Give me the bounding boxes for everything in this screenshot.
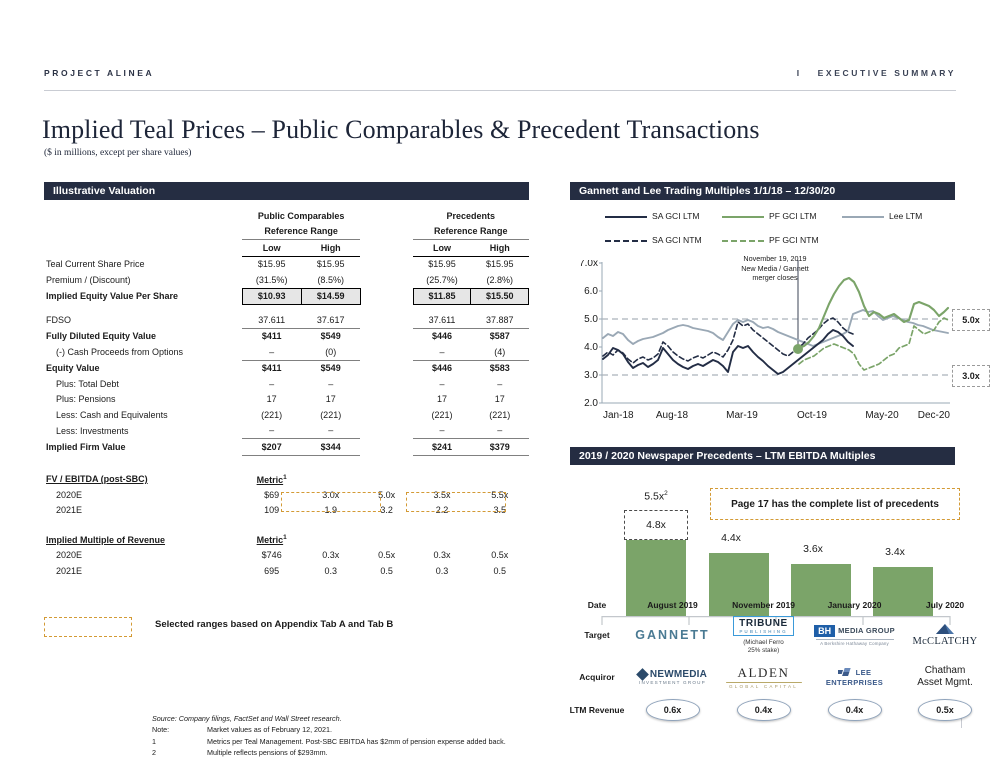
cell: 17: [413, 392, 471, 408]
row-label-ltm-revenue: LTM Revenue: [565, 697, 627, 723]
alden-logo-rule: [726, 682, 802, 684]
cell: $207: [242, 439, 301, 456]
row-label: 2021E: [44, 563, 242, 579]
table-row-date: Date August 2019 November 2019 January 2…: [565, 596, 990, 613]
cell: 0.3x: [301, 548, 360, 564]
table-row: (-) Cash Proceeds from Options – (0) – (…: [44, 344, 529, 360]
page-title: Implied Teal Prices – Public Comparables…: [42, 115, 760, 145]
legend-swatch-icon: [605, 216, 647, 218]
footnote-key: 1: [152, 736, 207, 747]
cell: 37.617: [301, 312, 360, 328]
col-header-prec-high: High: [471, 240, 529, 257]
cell: $411: [242, 360, 301, 376]
cell: (221): [301, 407, 360, 423]
cell: 0.3: [413, 563, 471, 579]
cell: (221): [413, 407, 471, 423]
cell: –: [471, 423, 529, 439]
row-label: Implied Equity Value Per Share: [44, 288, 242, 305]
table-row-acquiror: Acquiror NEWMEDIA INVESTMENT GROUP ALDEN…: [565, 657, 990, 697]
bar-upper-label-1: 5.5x2: [606, 490, 706, 503]
cell-ltm-revenue: 0.6x: [627, 697, 718, 723]
cell: (2.8%): [471, 272, 529, 288]
cell: 0.5x: [471, 548, 529, 564]
mcclatchy-logo: McCLATCHY: [900, 636, 990, 647]
merger-event-marker: [793, 344, 803, 354]
legend-swatch-icon: [722, 216, 764, 218]
header-section-label: IEXECUTIVE SUMMARY: [797, 68, 956, 78]
cell: $15.50: [471, 288, 529, 305]
cell: –: [242, 344, 301, 360]
legend-label: Lee LTM: [889, 211, 922, 221]
line-chart-svg: 7.0x 6.0 5.0 4.0 3.0 2.0: [570, 260, 990, 435]
table-row: Less: Cash and Equivalents (221) (221) (…: [44, 407, 529, 423]
legend-swatch-icon: [722, 240, 764, 242]
trading-multiples-chart: SA GCI LTM PF GCI LTM Lee LTM SA GCI NTM…: [570, 205, 990, 435]
cell: $446: [413, 360, 471, 376]
table-row: Premium / (Discount) (31.5%) (8.5%) (25.…: [44, 272, 529, 288]
header-section-numeral: I: [797, 68, 802, 78]
cell: (31.5%): [242, 272, 301, 288]
selected-range-box-public: [281, 492, 381, 512]
col-header-public-low: Low: [242, 240, 301, 257]
svg-text:May-20: May-20: [865, 410, 899, 421]
cell: 0.5: [471, 563, 529, 579]
cell: $587: [471, 328, 529, 344]
table-row: Plus: Total Debt – – – –: [44, 376, 529, 392]
cell: 37.611: [242, 312, 301, 328]
col-header-prec-low: Low: [413, 240, 471, 257]
cell: $10.93: [242, 288, 301, 305]
row-label: Premium / (Discount): [44, 272, 242, 288]
metric-header: Metric: [257, 535, 284, 545]
table-row: Less: Investments – – – –: [44, 423, 529, 439]
header-divider: [44, 90, 956, 91]
cell: 37.887: [471, 312, 529, 328]
table-row: Implied Firm Value $207 $344 $241 $379: [44, 439, 529, 456]
alden-logo: ALDEN: [718, 665, 809, 681]
cell-target-bh-media: BHMEDIA GROUP A Berkshire Hathaway Compa…: [809, 613, 900, 657]
ltm-revenue-pill: 0.4x: [828, 699, 882, 721]
svg-text:Mar-19: Mar-19: [726, 410, 758, 421]
metric-footnote-marker: 1: [283, 534, 287, 541]
table-row: Plus: Pensions 17 17 17 17: [44, 392, 529, 408]
table-row-group-header: Public Comparables Precedents: [44, 208, 529, 224]
cell-metric: $746: [242, 548, 301, 564]
bh-media-logo-sub: A Berkshire Hathaway Company: [809, 641, 900, 646]
table-row-group-subheader: Reference Range Reference Range: [44, 224, 529, 240]
subsection-title-fv-ebitda: FV / EBITDA (post-SBC): [46, 474, 148, 484]
metric-header: Metric: [257, 475, 284, 485]
bh-media-logo: BHMEDIA GROUP: [809, 625, 900, 637]
cell: –: [413, 344, 471, 360]
footnote-source: Source: Company filings, FactSet and Wal…: [152, 713, 506, 724]
table-row-column-headers: Low High Low High: [44, 240, 529, 257]
group-header-precedents: Precedents: [413, 208, 528, 224]
callout-page-reference: Page 17 has the complete list of precede…: [710, 488, 960, 520]
table-row: Equity Value $411 $549 $446 $583: [44, 360, 529, 376]
table-row-target: Target GANNETT TRIBUNE PUBLISHING (Micha…: [565, 613, 990, 657]
row-label: FDSO: [44, 312, 242, 328]
cell-ltm-revenue: 0.5x: [900, 697, 990, 723]
cell: (4): [471, 344, 529, 360]
col-header-public-high: High: [301, 240, 360, 257]
table-row: 2021E 695 0.3 0.5 0.3 0.5: [44, 563, 529, 579]
cell: (25.7%): [413, 272, 471, 288]
cell-ltm-revenue: 0.4x: [718, 697, 809, 723]
table-row: Fully Diluted Equity Value $411 $549 $44…: [44, 328, 529, 344]
group-subheader-public: Reference Range: [242, 224, 360, 240]
svg-text:Aug-18: Aug-18: [656, 410, 689, 421]
cell-acquiror-chatham: Chatham Asset Mgmt.: [900, 657, 990, 697]
ltm-revenue-pill: 0.4x: [737, 699, 791, 721]
svg-text:2.0: 2.0: [584, 398, 598, 409]
cell: (8.5%): [301, 272, 360, 288]
row-label: (-) Cash Proceeds from Options: [44, 344, 242, 360]
cell-target-gannett: GANNETT: [627, 613, 718, 657]
cell-target-tribune: TRIBUNE PUBLISHING (Michael Ferro 25% st…: [718, 613, 809, 657]
selected-range-legend-swatch: [44, 617, 132, 637]
target-note-tribune: (Michael Ferro 25% stake): [718, 639, 809, 655]
table-row: 2020E $746 0.3x 0.5x 0.3x 0.5x: [44, 548, 529, 564]
bar-value-label-4: 3.4x: [845, 546, 945, 558]
cell: 0.3: [301, 563, 360, 579]
cell: $344: [301, 439, 360, 456]
subsection-title-revenue-multiple: Implied Multiple of Revenue: [46, 535, 165, 545]
cell: $411: [242, 328, 301, 344]
section-header-trading-multiples: Gannett and Lee Trading Multiples 1/1/18…: [570, 182, 955, 200]
reference-value-5x: 5.0x: [952, 309, 990, 331]
ltm-revenue-pill: 0.6x: [646, 699, 700, 721]
ltm-revenue-pill: 0.5x: [918, 699, 972, 721]
cell: –: [301, 423, 360, 439]
cell: $15.95: [471, 256, 529, 272]
legend-item-sa-gci-ltm: SA GCI LTM: [605, 211, 700, 221]
cell: –: [242, 423, 301, 439]
cell: 0.3x: [413, 548, 471, 564]
cell: $549: [301, 360, 360, 376]
cell: $14.59: [301, 288, 360, 305]
cell-ltm-revenue: 0.4x: [809, 697, 900, 723]
cell-date: January 2020: [809, 596, 900, 613]
row-label: 2021E: [44, 503, 242, 519]
row-label: 2020E: [44, 487, 242, 503]
cell: (0): [301, 344, 360, 360]
footnote-text: Market values as of February 12, 2021.: [207, 724, 332, 735]
row-label: Plus: Pensions: [44, 392, 242, 408]
cell: –: [413, 376, 471, 392]
cell: 0.5x: [360, 548, 413, 564]
cell: –: [301, 376, 360, 392]
chatham-logo-line1: Chatham: [900, 665, 990, 678]
cell: $15.95: [242, 256, 301, 272]
cell: $15.95: [413, 256, 471, 272]
lee-mark-icon: [838, 667, 854, 677]
alden-logo-sub: GLOBAL CAPITAL: [718, 684, 809, 689]
row-label: Equity Value: [44, 360, 242, 376]
cell: 17: [301, 392, 360, 408]
legend-label: SA GCI LTM: [652, 211, 700, 221]
reference-value-3x: 3.0x: [952, 365, 990, 387]
svg-text:Dec-20: Dec-20: [918, 410, 951, 421]
bar-upper-footnote-marker: 2: [664, 490, 668, 497]
table-row-highlighted: Implied Equity Value Per Share $10.93 $1…: [44, 288, 529, 305]
legend-item-pf-gci-ltm: PF GCI LTM: [722, 211, 817, 221]
group-subheader-precedents: Reference Range: [413, 224, 528, 240]
cell-acquiror-lee: LEE ENTERPRISES: [809, 657, 900, 697]
footnote-row: 1 Metrics per Teal Management. Post-SBC …: [152, 736, 506, 747]
row-label-acquiror: Acquiror: [565, 657, 627, 697]
cell: 17: [242, 392, 301, 408]
footnotes: Source: Company filings, FactSet and Wal…: [152, 713, 506, 759]
group-header-public-comparables: Public Comparables: [242, 208, 360, 224]
cell: $11.85: [413, 288, 471, 305]
bar-value-box-1: 4.8x: [624, 510, 688, 540]
section-header-illustrative-valuation: Illustrative Valuation: [44, 182, 529, 200]
legend-label: PF GCI NTM: [769, 235, 819, 245]
legend-swatch-icon: [605, 240, 647, 242]
cell: $379: [471, 439, 529, 456]
footnote-text: Multiple reflects pensions of $293mm.: [207, 747, 328, 758]
svg-text:5.0: 5.0: [584, 314, 598, 325]
cell: $15.95: [301, 256, 360, 272]
cell: $583: [471, 360, 529, 376]
lee-logo: LEE ENTERPRISES: [809, 667, 900, 688]
cell-date: July 2020: [900, 596, 990, 613]
cell-date: August 2019: [627, 596, 718, 613]
metric-footnote-marker: 1: [283, 474, 287, 481]
cell: $549: [301, 328, 360, 344]
row-label: Fully Diluted Equity Value: [44, 328, 242, 344]
tribune-logo: TRIBUNE PUBLISHING: [733, 616, 794, 636]
cell: (221): [242, 407, 301, 423]
legend-item-lee-ltm: Lee LTM: [842, 211, 922, 221]
chatham-logo-line2: Asset Mgmt.: [900, 677, 990, 690]
cell: –: [413, 423, 471, 439]
cell-metric: 695: [242, 563, 301, 579]
svg-text:Jan-18: Jan-18: [603, 410, 634, 421]
svg-text:Oct-19: Oct-19: [797, 410, 827, 421]
gannett-logo: GANNETT: [627, 628, 718, 642]
cell-date: November 2019: [718, 596, 809, 613]
footnote-row: 2 Multiple reflects pensions of $293mm.: [152, 747, 506, 758]
table-row: Teal Current Share Price $15.95 $15.95 $…: [44, 256, 529, 272]
legend-label: SA GCI NTM: [652, 235, 702, 245]
row-label: 2020E: [44, 548, 242, 564]
cell: 17: [471, 392, 529, 408]
legend-swatch-icon: [842, 216, 884, 218]
header-section-text: EXECUTIVE SUMMARY: [818, 68, 956, 78]
row-label: Implied Firm Value: [44, 439, 242, 456]
table-row-ltm-revenue: LTM Revenue 0.6x 0.4x 0.4x 0.5x: [565, 697, 990, 723]
row-label: Teal Current Share Price: [44, 256, 242, 272]
footnote-text: Metrics per Teal Management. Post-SBC EB…: [207, 736, 506, 747]
cell-acquiror-alden: ALDEN GLOBAL CAPITAL: [718, 657, 809, 697]
table-row: FDSO 37.611 37.617 37.611 37.887: [44, 312, 529, 328]
row-label: Plus: Total Debt: [44, 376, 242, 392]
row-label: Less: Cash and Equivalents: [44, 407, 242, 423]
cell: $241: [413, 439, 471, 456]
row-label: Less: Investments: [44, 423, 242, 439]
legend-item-pf-gci-ntm: PF GCI NTM: [722, 235, 819, 245]
cell: 37.611: [413, 312, 471, 328]
svg-text:4.0: 4.0: [584, 342, 598, 353]
table-row-subsection-header: FV / EBITDA (post-SBC) Metric1: [44, 472, 529, 488]
mcclatchy-mark-icon: [934, 623, 956, 635]
cell-target-mcclatchy: McCLATCHY: [900, 613, 990, 657]
page-subtitle: ($ in millions, except per share values): [44, 148, 191, 158]
newmedia-logo: NEWMEDIA: [627, 669, 718, 680]
precedents-detail-table: Date August 2019 November 2019 January 2…: [565, 596, 990, 723]
legend-label: PF GCI LTM: [769, 211, 817, 221]
svg-text:3.0: 3.0: [584, 370, 598, 381]
svg-text:6.0: 6.0: [584, 286, 598, 297]
footnote-key: Note:: [152, 724, 207, 735]
cell: 0.5: [360, 563, 413, 579]
selected-range-box-precedents: [406, 492, 506, 512]
selected-range-legend-label: Selected ranges based on Appendix Tab A …: [155, 619, 393, 630]
slide: PROJECT ALINEA IEXECUTIVE SUMMARY Implie…: [0, 0, 1000, 771]
header-project-label: PROJECT ALINEA: [44, 68, 154, 78]
footnote-key: 2: [152, 747, 207, 758]
valuation-table: Public Comparables Precedents Reference …: [44, 208, 529, 579]
cell: –: [471, 376, 529, 392]
legend-item-sa-gci-ntm: SA GCI NTM: [605, 235, 702, 245]
cell: –: [242, 376, 301, 392]
row-label-target: Target: [565, 613, 627, 657]
table-row-subsection-header: Implied Multiple of Revenue Metric1: [44, 532, 529, 548]
bh-logo-rule: [816, 639, 894, 640]
cell: (221): [471, 407, 529, 423]
row-label-date: Date: [565, 596, 627, 613]
svg-text:7.0x: 7.0x: [579, 260, 598, 269]
cell: $446: [413, 328, 471, 344]
newmedia-logo-sub: INVESTMENT GROUP: [627, 680, 718, 685]
cell-acquiror-newmedia: NEWMEDIA INVESTMENT GROUP: [627, 657, 718, 697]
footnote-row: Note: Market values as of February 12, 2…: [152, 724, 506, 735]
tribune-logo-sub: PUBLISHING: [739, 629, 788, 634]
section-header-newspaper-precedents: 2019 / 2020 Newspaper Precedents – LTM E…: [570, 447, 955, 465]
